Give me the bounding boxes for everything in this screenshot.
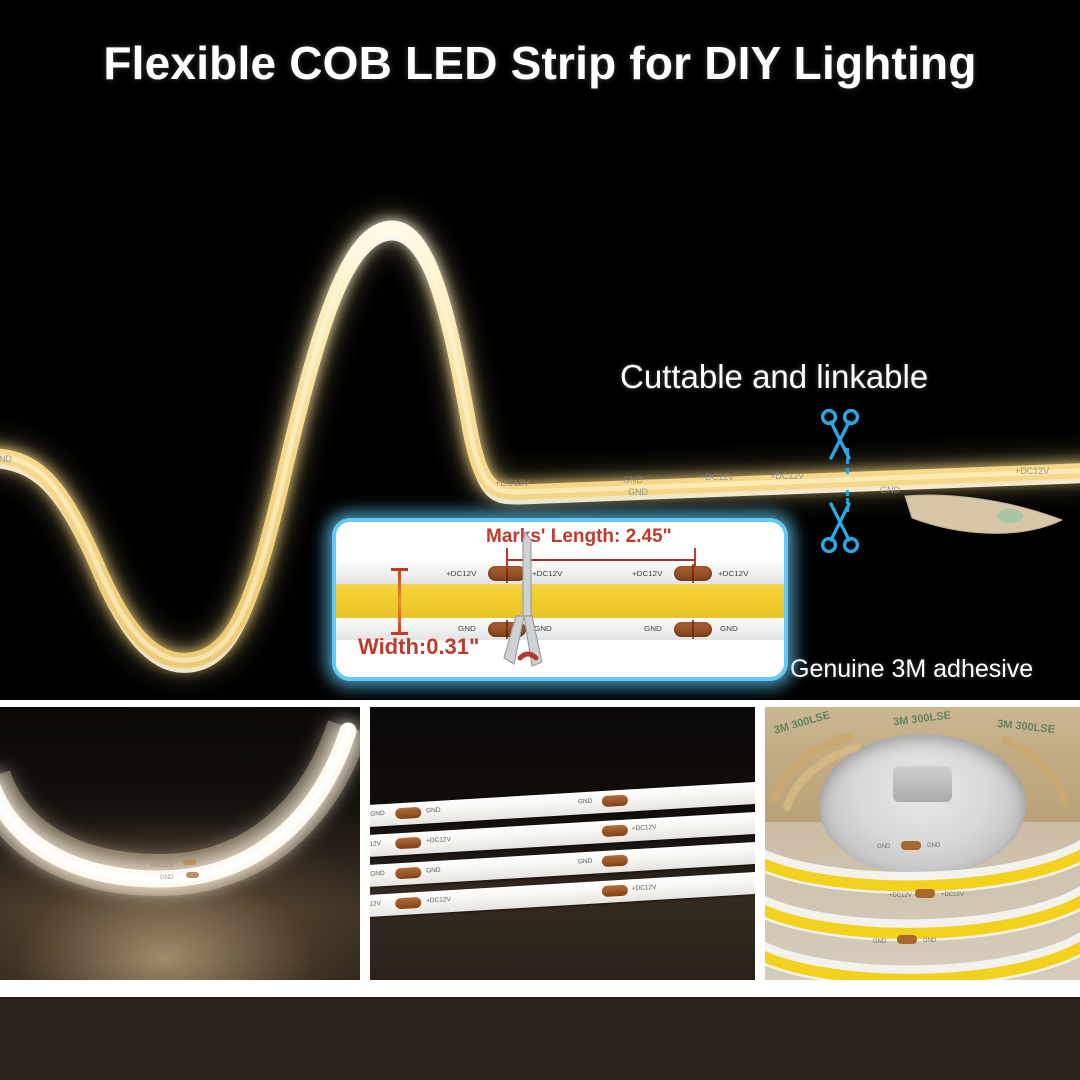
solder-pad <box>395 897 422 910</box>
strip-mark: GND <box>873 939 887 945</box>
scissors-icon <box>818 498 862 554</box>
solder-pad <box>674 566 712 581</box>
solder-pad <box>602 885 629 898</box>
pin-label: GND <box>370 810 385 818</box>
pin-label: +DC12V <box>370 900 381 908</box>
pin-label: GND <box>370 870 385 878</box>
solder-pad <box>602 855 629 868</box>
svg-text:+DC12V: +DC12V <box>495 478 529 488</box>
dimension-tick <box>391 568 408 571</box>
solder-pad <box>395 867 422 880</box>
dimension-tick <box>694 548 696 568</box>
pin-label: +DC12V <box>632 824 657 832</box>
pin-label: +DC12V <box>718 569 748 578</box>
liner-print <box>997 509 1023 523</box>
solder-pad <box>602 825 629 838</box>
strip-mark: GND <box>923 938 937 944</box>
cut-line <box>846 448 849 474</box>
panel-unlit-strips: GND GND GND +DC12V +DC12V +DC12V GND GND <box>370 707 755 980</box>
width-dimension-line <box>398 568 401 634</box>
solder-pad <box>602 795 629 808</box>
pin-label: +DC12V <box>370 840 381 848</box>
strip-mark: GND <box>877 844 891 850</box>
pin-label: +DC12V <box>632 569 662 578</box>
adhesive-liner <box>905 495 1062 533</box>
hero-section: Flexible COB LED Strip for DIY Lighting <box>0 0 1080 700</box>
pin-label: GND <box>644 624 662 633</box>
cob-phosphor-band <box>336 584 784 618</box>
solder-pad <box>395 837 422 850</box>
panel1-strip: +DC12V GND <box>0 707 360 980</box>
strip-mark: +DC12V <box>889 893 912 899</box>
panel-strip-reel: 3M 300LSE 3M 300LSE 3M 300LSE <box>765 707 1080 980</box>
dimension-detail-card: +DC12V +DC12V +DC12V +DC12V GND GND GND … <box>332 518 788 681</box>
cuttable-label: Cuttable and linkable <box>620 358 928 396</box>
svg-text:+DC12V: +DC12V <box>770 471 804 481</box>
solder-pad <box>395 807 422 820</box>
scissors-icon <box>498 530 556 670</box>
svg-text:GND: GND <box>628 487 649 497</box>
svg-text:GND: GND <box>880 485 901 495</box>
strip-mark: +DC12V <box>150 863 173 869</box>
photo-panel-strip: +DC12V GND GND GND GND <box>0 700 1080 987</box>
pin-label: +DC12V <box>446 569 476 578</box>
pin-label: GND <box>426 867 441 875</box>
strip-mark: GND <box>927 843 941 849</box>
svg-text:+DC12V: +DC12V <box>700 472 734 482</box>
svg-text:GND: GND <box>623 475 644 485</box>
panel-lit-strip-curve: +DC12V GND <box>0 707 360 980</box>
strip-mark: +DC12V <box>941 892 964 898</box>
panel3-coiled-strips: GND GND +DC12V +DC12V GND GND <box>765 707 1080 980</box>
width-label: Width:0.31" <box>358 634 479 660</box>
svg-text:GND: GND <box>0 454 13 464</box>
pin-label: GND <box>578 858 593 866</box>
product-infographic: Flexible COB LED Strip for DIY Lighting <box>0 0 1080 1080</box>
solder-pad <box>674 622 712 637</box>
adhesive-label: Genuine 3M adhesive <box>790 655 1033 684</box>
strip-mark: GND <box>160 875 174 881</box>
inset-strip-diagram: +DC12V +DC12V +DC12V +DC12V GND GND GND … <box>336 562 784 640</box>
pin-label: +DC12V <box>632 884 657 892</box>
pin-label: +DC12V <box>426 896 451 904</box>
pin-label: GND <box>720 624 738 633</box>
pin-label: GND <box>578 798 593 806</box>
footer-band <box>0 997 1080 1080</box>
footer-separator <box>0 987 1080 997</box>
svg-text:+DC12V: +DC12V <box>1015 466 1049 476</box>
scissors-icon <box>818 408 862 464</box>
pin-label: +DC12V <box>426 836 451 844</box>
pin-label: GND <box>426 807 441 815</box>
pin-label: GND <box>458 624 476 633</box>
